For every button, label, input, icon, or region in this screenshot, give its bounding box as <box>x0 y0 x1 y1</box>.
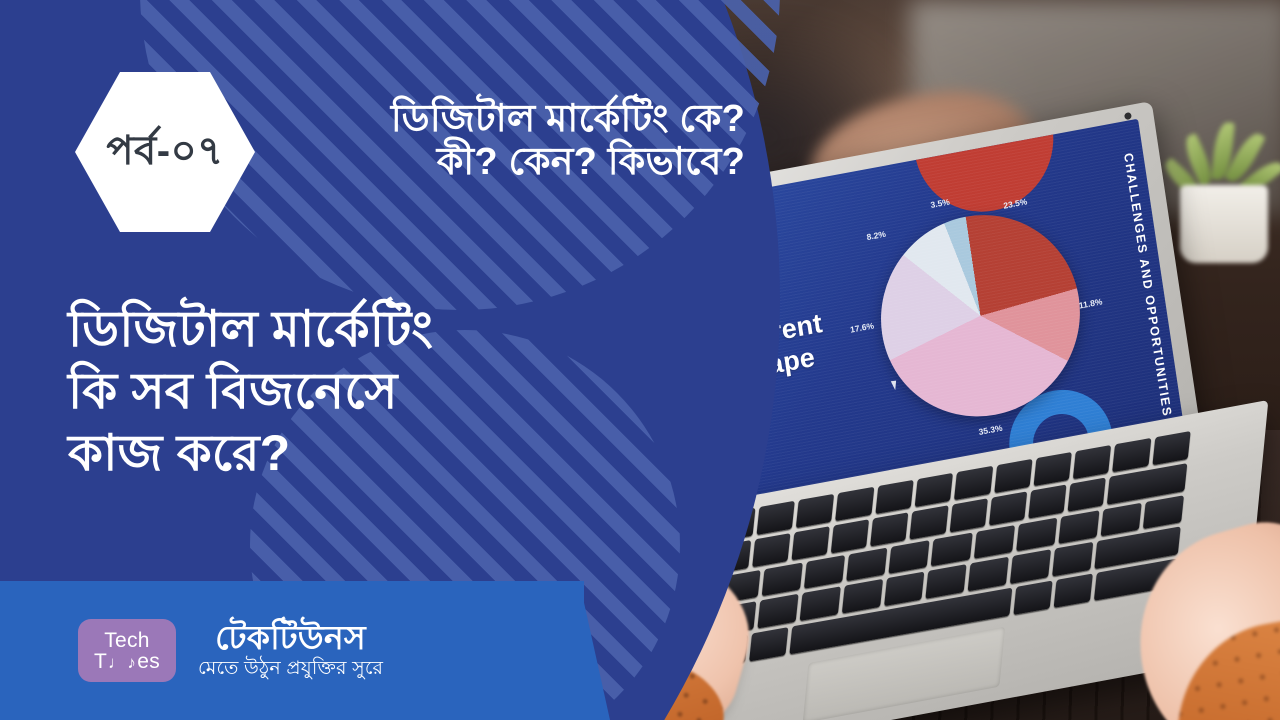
headline-line-1: ডিজিটাল মার্কেটিং <box>68 298 588 360</box>
eyebrow-line-1: ডিজিটাল মার্কেটিং কে? <box>275 98 745 141</box>
logo-line-2: T ♩ ♪ es <box>94 651 160 672</box>
slide-side-label: CHALLENGES AND OPPORTUNITIES <box>1121 152 1174 418</box>
brand-text-block: টেকটিউনস মেতে উঠুন প্রযুক্তির সুরে <box>198 619 383 681</box>
mouse-cursor-icon <box>891 379 900 390</box>
music-note-icon-2: ♪ <box>127 654 136 671</box>
brand-tagline: মেতে উঠুন প্রযুক্তির সুরে <box>198 657 383 682</box>
pie-label-4: 8.2% <box>866 229 887 242</box>
pie-label-2: 35.3% <box>978 423 1003 437</box>
tech-tunes-logo: Tech T ♩ ♪ es <box>78 619 176 682</box>
logo-line-1: Tech <box>104 630 150 651</box>
main-headline: ডিজিটাল মার্কেটিং কি সব বিজনেসে কাজ করে? <box>68 298 588 484</box>
pie-chart-circle <box>867 199 1093 433</box>
pie-chart: 23.5% 11.8% 35.3% 17.6% 8.2% 3.5% <box>839 169 1122 462</box>
pie-label-1: 11.8% <box>1078 296 1103 310</box>
eyebrow-heading: ডিজিটাল মার্কেটিং কে? কী? কেন? কিভাবে? <box>275 98 745 183</box>
music-note-icon-1: ♩ <box>108 654 125 671</box>
headline-line-3: কাজ করে? <box>68 422 588 484</box>
brand-name: টেকটিউনস <box>215 621 366 656</box>
episode-badge-label: পর্ব-০৭ <box>106 119 223 186</box>
pie-label-0: 23.5% <box>1003 196 1028 210</box>
logo-suffix: es <box>137 651 160 672</box>
pie-label-5: 3.5% <box>930 197 951 210</box>
headline-line-2: কি সব বিজনেসে <box>68 360 588 422</box>
eyebrow-line-2: কী? কেন? কিভাবে? <box>275 141 745 184</box>
webcam-dot <box>1124 112 1132 120</box>
logo-prefix: T <box>94 651 107 672</box>
thumbnail-canvas: The Current Landscape CHALLENGES AND OPP… <box>0 0 1280 720</box>
brand-row: Tech T ♩ ♪ es টেকটিউনস মেতে উঠুন প্রযুক্… <box>0 581 584 720</box>
